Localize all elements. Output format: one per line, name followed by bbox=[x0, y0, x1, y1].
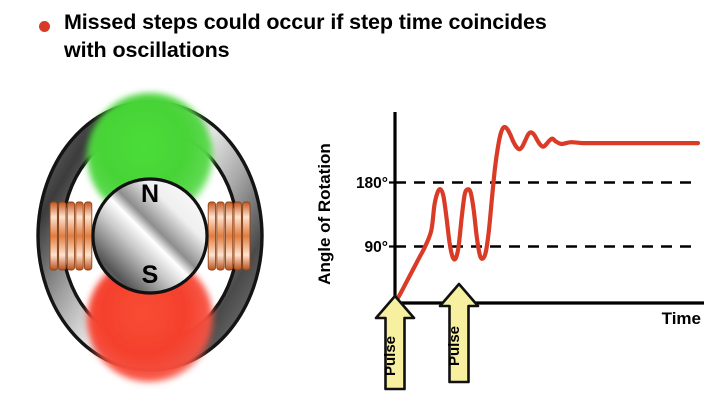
coil-left bbox=[48, 202, 92, 270]
pulse-label-2: Pulse bbox=[446, 326, 463, 366]
pulse-label-1: Pulse bbox=[382, 336, 399, 376]
stepper-motor-diagram: N S bbox=[18, 84, 318, 389]
slide-title-block: Missed steps could occur if step time co… bbox=[34, 8, 554, 65]
angle-vs-time-chart: Angle of Rotation 180° 90° Time Pulse Pu… bbox=[316, 104, 706, 399]
angle-response-curve bbox=[395, 127, 698, 303]
pulse-annotation-2: Pulse bbox=[440, 284, 478, 382]
rotor-south-label: S bbox=[142, 261, 159, 289]
x-axis-title: Time bbox=[662, 309, 701, 328]
rotor-magnet: N S bbox=[93, 179, 207, 293]
pulse-annotation-1: Pulse bbox=[376, 296, 414, 389]
page-title: Missed steps could occur if step time co… bbox=[34, 8, 554, 65]
y-tick-label-90: 90° bbox=[365, 239, 388, 256]
coil-right bbox=[208, 202, 250, 270]
bullet-point-icon bbox=[39, 21, 50, 32]
y-tick-label-180: 180° bbox=[356, 175, 388, 192]
y-axis-title: Angle of Rotation bbox=[316, 143, 334, 285]
rotor-north-label: N bbox=[141, 180, 159, 208]
